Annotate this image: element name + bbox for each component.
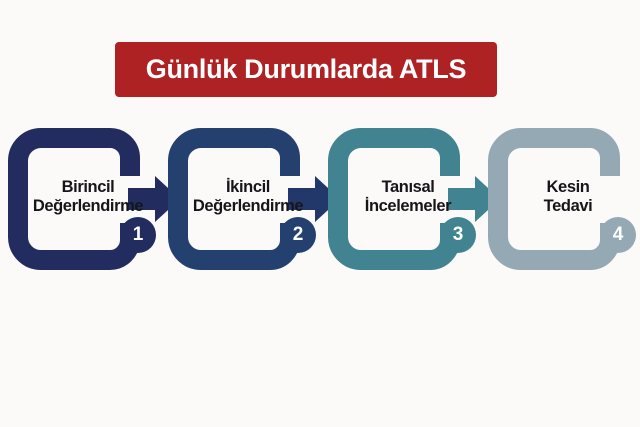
title-banner: Günlük Durumlarda ATLS [115, 42, 497, 97]
step-bracket-shape [168, 128, 328, 278]
step-ring [498, 138, 610, 260]
process-step[interactable]: KesinTedavi4 [488, 128, 640, 278]
step-bracket-shape [488, 128, 640, 278]
process-step[interactable]: İkincilDeğerlendirme2 [168, 128, 328, 278]
step-bracket-shape [8, 128, 168, 278]
process-step[interactable]: Tanısalİncelemeler3 [328, 128, 488, 278]
step-number-badge: 1 [120, 217, 156, 253]
step-number-badge: 4 [600, 217, 636, 253]
step-number-badge: 3 [440, 217, 476, 253]
page-title: Günlük Durumlarda ATLS [146, 56, 466, 83]
step-bracket-shape [328, 128, 488, 278]
process-step[interactable]: BirincilDeğerlendirme1 [8, 128, 168, 278]
step-number-badge: 2 [280, 217, 316, 253]
process-flow: BirincilDeğerlendirme1İkincilDeğerlendir… [0, 128, 640, 278]
diagram-canvas: Günlük Durumlarda ATLS BirincilDeğerlend… [0, 0, 640, 427]
step-ring [338, 138, 450, 260]
step-ring [18, 138, 130, 260]
step-ring [178, 138, 290, 260]
